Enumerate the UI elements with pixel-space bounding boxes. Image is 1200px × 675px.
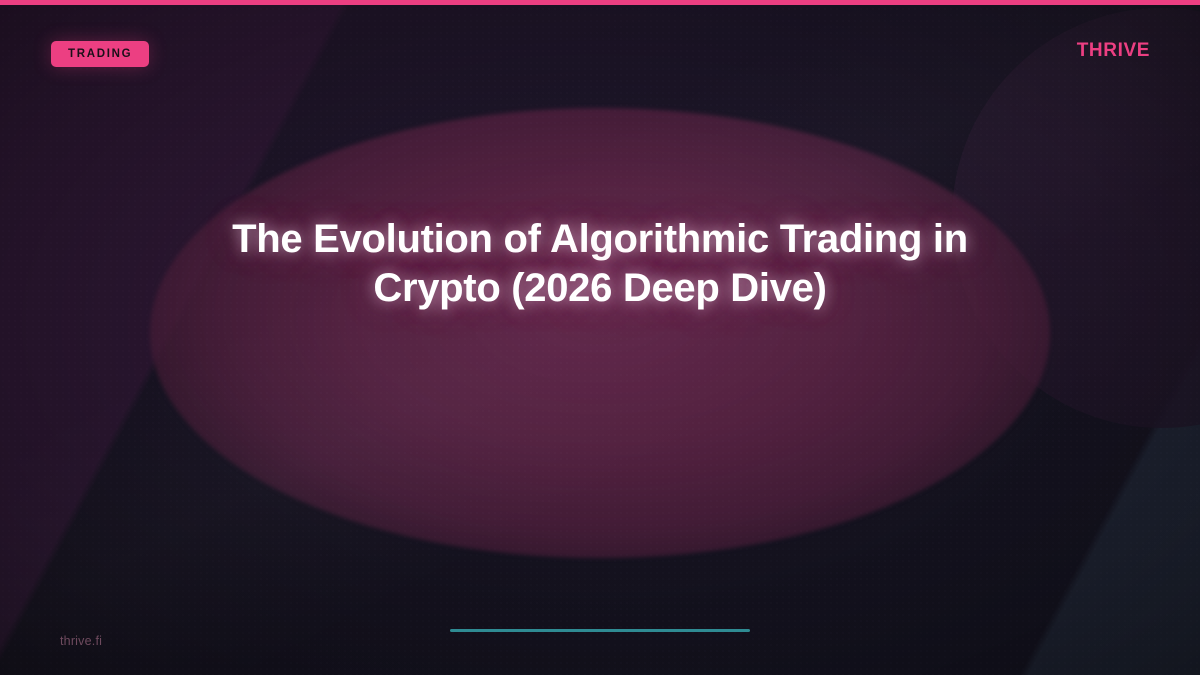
bottom-accent-rule <box>450 629 750 632</box>
site-url: thrive.fi <box>60 634 102 648</box>
category-badge: TRADING <box>51 41 149 67</box>
brand-logo: THRIVE <box>1077 40 1150 62</box>
top-accent-bar <box>0 0 1200 5</box>
background-vignette <box>0 0 1200 675</box>
page-title: The Evolution of Algorithmic Trading in … <box>0 215 1200 313</box>
social-card: TRADING THRIVE The Evolution of Algorith… <box>0 0 1200 675</box>
